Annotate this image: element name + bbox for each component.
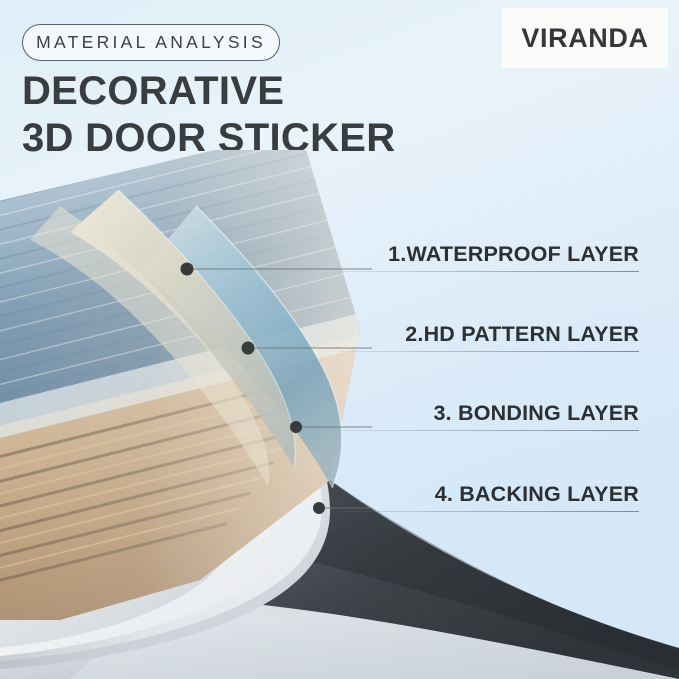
callout-2: 2.HD PATTERN LAYER bbox=[339, 324, 639, 352]
brand-logo-label: VIRANDA bbox=[521, 23, 648, 54]
callout-1-rule bbox=[339, 271, 639, 272]
title-line-1: DECORATIVE bbox=[22, 68, 492, 115]
callout-1: 1.WATERPROOF LAYER bbox=[339, 244, 639, 272]
callout-4: 4. BACKING LAYER bbox=[339, 484, 639, 512]
callout-1-label: 1.WATERPROOF LAYER bbox=[339, 244, 639, 266]
callout-3-label: 3. BONDING LAYER bbox=[339, 403, 639, 425]
eyebrow-badge: MATERIAL ANALYSIS bbox=[22, 24, 280, 61]
page-title: DECORATIVE 3D DOOR STICKER bbox=[22, 68, 492, 162]
callout-3: 3. BONDING LAYER bbox=[339, 403, 639, 431]
callout-2-rule bbox=[339, 351, 639, 352]
callout-3-rule bbox=[339, 430, 639, 431]
callout-4-label: 4. BACKING LAYER bbox=[339, 484, 639, 506]
eyebrow-label: MATERIAL ANALYSIS bbox=[36, 32, 266, 53]
callout-2-label: 2.HD PATTERN LAYER bbox=[339, 324, 639, 346]
callout-4-rule bbox=[339, 511, 639, 512]
poster-root: MATERIAL ANALYSIS DECORATIVE 3D DOOR STI… bbox=[0, 0, 679, 679]
brand-logo: VIRANDA bbox=[502, 8, 668, 68]
